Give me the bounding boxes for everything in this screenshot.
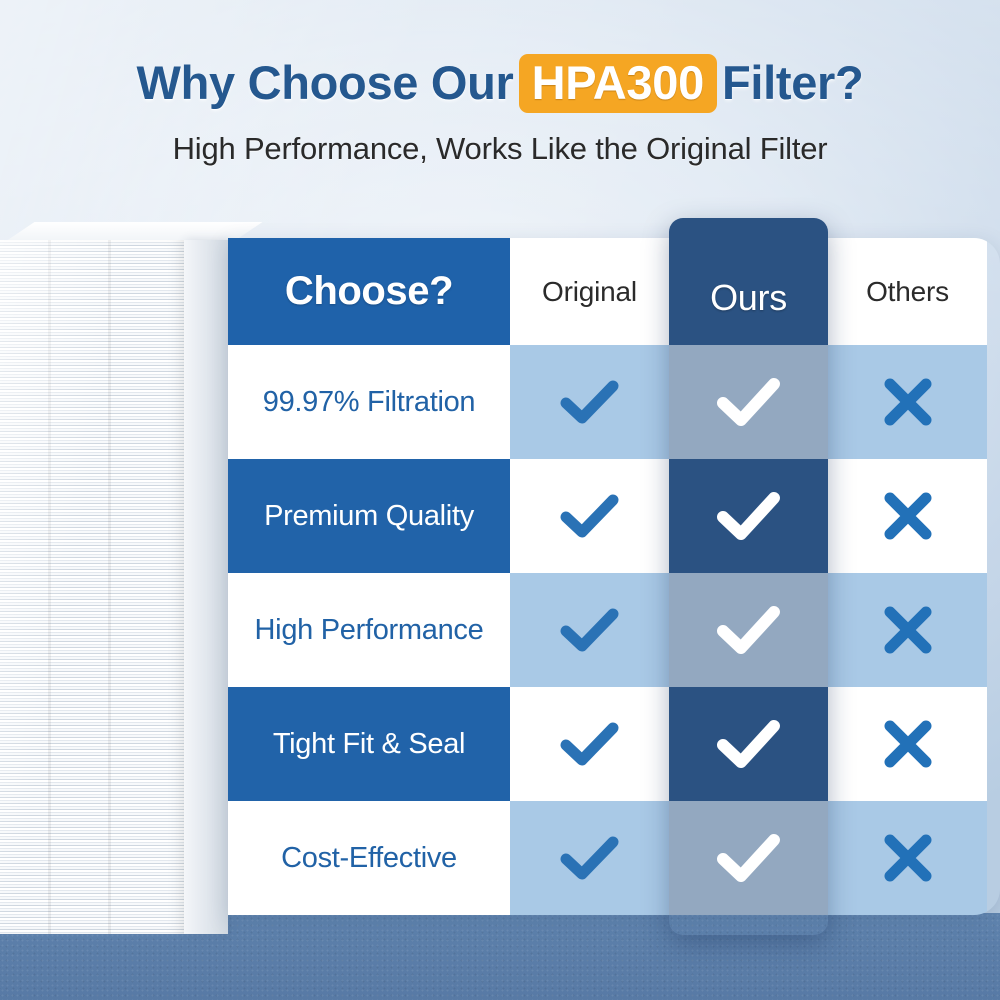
- page-title: Why Choose OurHPA300Filter?: [0, 54, 1000, 113]
- cell-original: [510, 573, 669, 687]
- title-text-after: Filter?: [722, 56, 864, 109]
- cell-ours: [669, 687, 828, 801]
- check-icon: [559, 719, 621, 769]
- filter-side-face: [184, 240, 228, 934]
- page-subtitle: High Performance, Works Like the Origina…: [0, 131, 1000, 167]
- check-icon: [715, 831, 783, 885]
- row-feature-cell: Tight Fit & Seal: [228, 687, 510, 801]
- row-feature-cell: High Performance: [228, 573, 510, 687]
- table-row: Tight Fit & Seal: [228, 687, 1000, 801]
- column-header-original: Original: [510, 238, 669, 345]
- row-feature-label: High Performance: [255, 614, 484, 647]
- cross-icon: [881, 603, 935, 657]
- check-icon: [715, 717, 783, 771]
- check-icon: [559, 377, 621, 427]
- cell-ours: [669, 801, 828, 915]
- column-header-original-label: Original: [542, 276, 637, 308]
- table-corner-cell: Choose?: [228, 238, 510, 345]
- row-feature-cell: Premium Quality: [228, 459, 510, 573]
- table-row: High Performance: [228, 573, 1000, 687]
- row-feature-label: Premium Quality: [264, 500, 474, 533]
- cell-original: [510, 345, 669, 459]
- cell-original: [510, 801, 669, 915]
- row-feature-label: Tight Fit & Seal: [273, 728, 465, 761]
- column-header-others: Others: [828, 238, 987, 345]
- infographic-scene: Why Choose OurHPA300Filter? High Perform…: [0, 0, 1000, 1000]
- row-feature-cell: 99.97% Filtration: [228, 345, 510, 459]
- title-text-before: Why Choose Our: [137, 56, 514, 109]
- table-row: Premium Quality: [228, 459, 1000, 573]
- check-icon: [559, 605, 621, 655]
- cell-original: [510, 687, 669, 801]
- cross-icon: [881, 489, 935, 543]
- cell-original: [510, 459, 669, 573]
- column-header-others-label: Others: [866, 276, 949, 308]
- row-feature-cell: Cost-Effective: [228, 801, 510, 915]
- check-icon: [715, 489, 783, 543]
- row-feature-label: 99.97% Filtration: [263, 386, 476, 419]
- table-row: Cost-Effective: [228, 801, 1000, 915]
- table-row: 99.97% Filtration: [228, 345, 1000, 459]
- cell-others: [828, 573, 987, 687]
- cell-ours: [669, 345, 828, 459]
- check-icon: [715, 375, 783, 429]
- check-icon: [559, 833, 621, 883]
- ours-highlight-column: Ours: [669, 218, 828, 935]
- cell-others: [828, 345, 987, 459]
- column-header-ours-label: Ours: [710, 277, 787, 319]
- column-header-ours: Ours: [669, 218, 828, 345]
- product-image-hepa-filter: [0, 222, 230, 934]
- check-icon: [559, 491, 621, 541]
- filter-pleated-face: [0, 240, 184, 934]
- row-feature-label: Cost-Effective: [281, 842, 457, 875]
- cell-ours: [669, 573, 828, 687]
- cell-others: [828, 459, 987, 573]
- check-icon: [715, 603, 783, 657]
- cross-icon: [881, 717, 935, 771]
- cell-ours: [669, 459, 828, 573]
- table-header-row: Choose? Original Others: [228, 238, 1000, 345]
- cross-icon: [881, 375, 935, 429]
- cell-others: [828, 687, 987, 801]
- comparison-table: Choose? Original Others 99.97% Filtratio…: [228, 238, 1000, 915]
- model-badge-hpa300: HPA300: [519, 54, 717, 113]
- cell-others: [828, 801, 987, 915]
- corner-label-text: Choose?: [285, 269, 453, 314]
- cross-icon: [881, 831, 935, 885]
